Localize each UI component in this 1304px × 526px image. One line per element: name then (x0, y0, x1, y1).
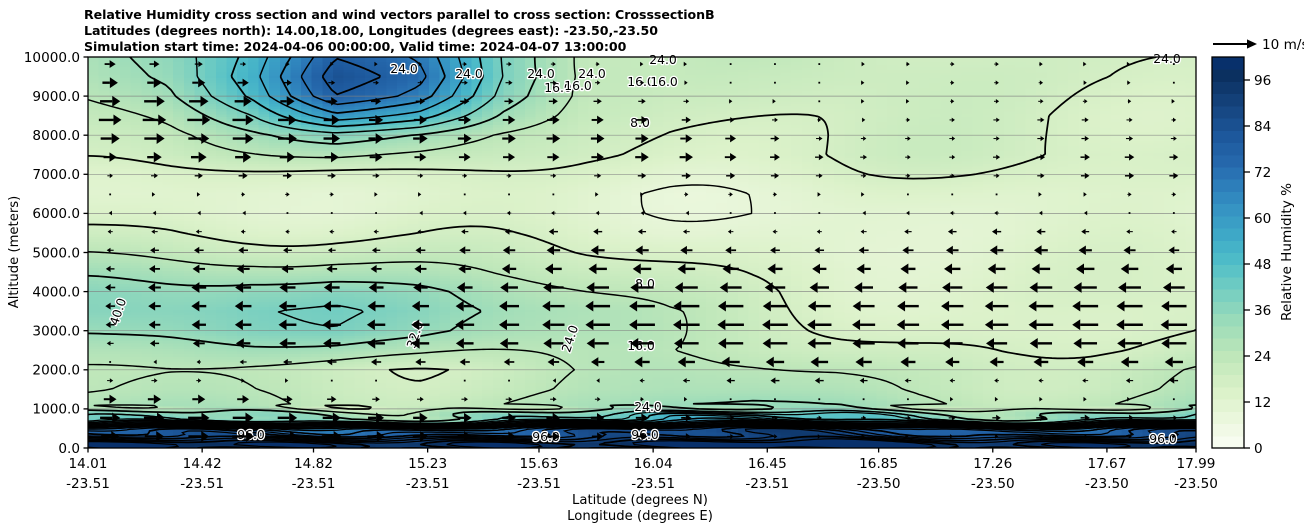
colorbar-ticks: 01224364860728496 (1244, 73, 1271, 457)
y-tick-label: 3000.0 (32, 324, 80, 340)
x-tick-label-latitude: 16.04 (634, 456, 673, 472)
colorbar-tick-label: 12 (1254, 395, 1271, 411)
x-tick-label-longitude: -23.50 (857, 476, 901, 492)
y-axis-label: Altitude (meters) (7, 196, 22, 309)
y-axis: 0.01000.02000.03000.04000.05000.06000.07… (24, 50, 88, 457)
plot-area: 24.024.024.024.016.016.016.016.024.024.0… (88, 51, 1197, 449)
colorbar[interactable]: 01224364860728496 Relative Humidity % (1212, 57, 1295, 457)
colorbar-tick-label: 72 (1254, 165, 1271, 181)
x-tick-label-latitude: 15.63 (520, 456, 559, 472)
colorbar-tick-label: 24 (1254, 349, 1271, 365)
y-tick-label: 5000.0 (32, 245, 80, 261)
y-tick-label: 7000.0 (32, 167, 80, 183)
x-tick-label-latitude: 14.82 (294, 456, 333, 472)
x-tick-label-longitude: -23.50 (1085, 476, 1129, 492)
cross-section-plot: 24.024.024.024.016.016.016.016.024.024.0… (0, 0, 1304, 526)
x-tick-label-longitude: -23.51 (66, 476, 110, 492)
x-axis-label-longitude: Longitude (degrees E) (567, 509, 713, 524)
colorbar-label: Relative Humidity % (1279, 183, 1295, 321)
colorbar-tick-label: 84 (1254, 119, 1271, 135)
quiver-key: 10 m/s (1213, 37, 1304, 53)
x-tick-label-latitude: 16.85 (859, 456, 898, 472)
y-tick-label: 4000.0 (32, 284, 80, 300)
x-tick-label-latitude: 17.99 (1177, 456, 1216, 472)
y-tick-label: 6000.0 (32, 206, 80, 222)
y-tick-label: 0.0 (58, 441, 80, 457)
x-tick-label-latitude: 14.42 (183, 456, 222, 472)
colorbar-tick-label: 36 (1254, 303, 1271, 319)
x-tick-label-latitude: 15.23 (408, 456, 447, 472)
x-tick-label-latitude: 17.67 (1087, 456, 1126, 472)
colorbar-tick-label: 60 (1254, 211, 1271, 227)
colorbar-tick-label: 48 (1254, 257, 1271, 273)
colorbar-tick-label: 0 (1254, 441, 1263, 457)
y-tick-label: 10000.0 (24, 50, 80, 66)
quiver-key-arrowhead-icon (1247, 39, 1257, 48)
x-tick-label-longitude: -23.51 (517, 476, 561, 492)
y-tick-label: 2000.0 (32, 363, 80, 379)
x-tick-label-longitude: -23.51 (406, 476, 450, 492)
x-tick-label-longitude: -23.50 (971, 476, 1015, 492)
x-tick-label-longitude: -23.51 (631, 476, 675, 492)
x-tick-label-longitude: -23.51 (180, 476, 224, 492)
y-tick-label: 1000.0 (32, 402, 80, 418)
x-tick-label-latitude: 17.26 (973, 456, 1012, 472)
figure-canvas: Relative Humidity cross section and wind… (0, 0, 1304, 526)
x-tick-label-latitude: 16.45 (748, 456, 787, 472)
quiver-key-label: 10 m/s (1262, 37, 1304, 53)
x-tick-label-latitude: 14.01 (69, 456, 108, 472)
x-axis-label-latitude: Latitude (degrees N) (572, 493, 708, 508)
x-tick-label-longitude: -23.50 (1174, 476, 1218, 492)
y-tick-label: 9000.0 (32, 89, 80, 105)
x-axis: 14.01-23.5114.42-23.5114.82-23.5115.23-2… (66, 448, 1218, 492)
colorbar-gradient (1212, 57, 1244, 449)
colorbar-tick-label: 96 (1254, 73, 1271, 89)
y-tick-label: 8000.0 (32, 128, 80, 144)
x-tick-label-longitude: -23.51 (292, 476, 336, 492)
x-tick-label-longitude: -23.51 (745, 476, 789, 492)
